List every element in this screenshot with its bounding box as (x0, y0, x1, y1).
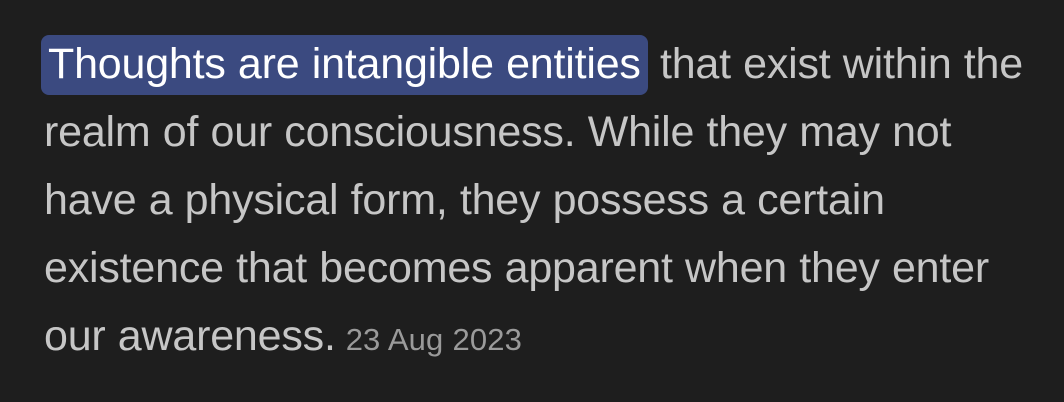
note-paragraph: Thoughts are intangible entities that ex… (44, 30, 1036, 374)
note-reader-surface: Thoughts are intangible entities that ex… (0, 0, 1064, 402)
note-date: 23 Aug 2023 (346, 322, 522, 357)
highlighted-text[interactable]: Thoughts are intangible entities (41, 35, 648, 95)
